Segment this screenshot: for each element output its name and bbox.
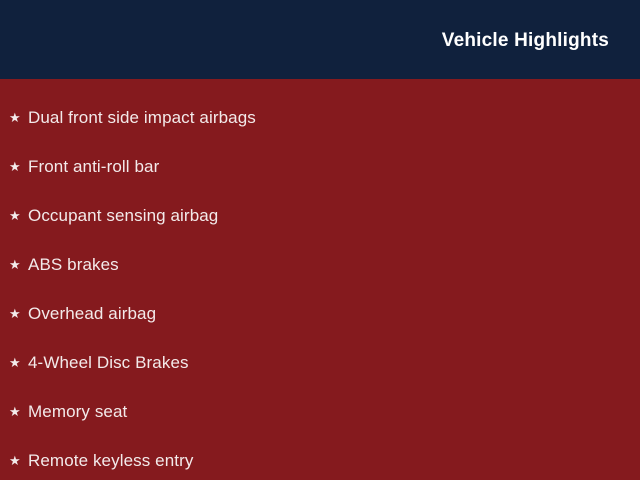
list-item: ★ Remote keyless entry <box>0 436 640 480</box>
slide-header: Vehicle Highlights <box>0 0 640 79</box>
star-icon: ★ <box>9 405 28 418</box>
list-item-label: Front anti-roll bar <box>28 158 159 175</box>
list-item: ★ ABS brakes <box>0 240 640 289</box>
star-icon: ★ <box>9 111 28 124</box>
list-item-label: Dual front side impact airbags <box>28 109 256 126</box>
star-icon: ★ <box>9 258 28 271</box>
vehicle-highlights-list: ★ Dual front side impact airbags ★ Front… <box>0 93 640 480</box>
list-item: ★ 4-Wheel Disc Brakes <box>0 338 640 387</box>
list-item: ★ Dual front side impact airbags <box>0 93 640 142</box>
star-icon: ★ <box>9 454 28 467</box>
list-item-label: 4-Wheel Disc Brakes <box>28 354 189 371</box>
list-item-label: Overhead airbag <box>28 305 156 322</box>
list-item: ★ Memory seat <box>0 387 640 436</box>
vehicle-highlights-slide: Vehicle Highlights ★ Dual front side imp… <box>0 0 640 480</box>
star-icon: ★ <box>9 307 28 320</box>
list-item: ★ Overhead airbag <box>0 289 640 338</box>
list-item-label: Memory seat <box>28 403 127 420</box>
star-icon: ★ <box>9 160 28 173</box>
list-item-label: Remote keyless entry <box>28 452 193 469</box>
list-item-label: Occupant sensing airbag <box>28 207 218 224</box>
list-item: ★ Occupant sensing airbag <box>0 191 640 240</box>
list-item: ★ Front anti-roll bar <box>0 142 640 191</box>
star-icon: ★ <box>9 209 28 222</box>
slide-body: ★ Dual front side impact airbags ★ Front… <box>0 79 640 480</box>
page-title: Vehicle Highlights <box>442 31 609 50</box>
star-icon: ★ <box>9 356 28 369</box>
list-item-label: ABS brakes <box>28 256 119 273</box>
